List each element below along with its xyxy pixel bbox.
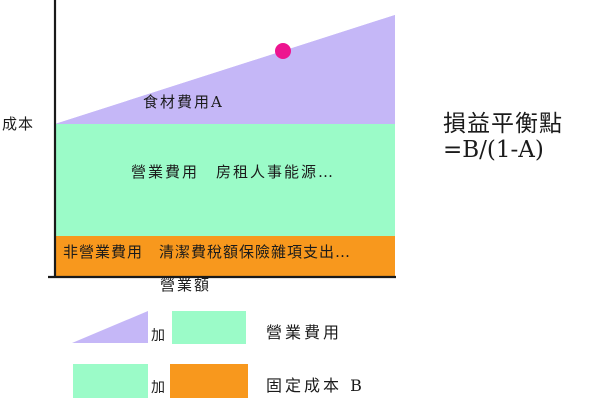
y-axis-label: 成本 xyxy=(2,117,34,132)
chart-canvas xyxy=(0,0,600,404)
break-even-dot-icon xyxy=(275,43,291,59)
legend-connector-1: 加 xyxy=(151,325,165,345)
break-even-formula-title: 損益平衡點 xyxy=(443,112,563,138)
x-axis-label: 營業額 xyxy=(160,278,211,293)
legend-label-operating-cost: 營業費用 xyxy=(266,319,342,343)
band-fixed-cost-label: 非營業費用 清潔費稅額保險雜項支出… xyxy=(63,245,351,260)
break-even-formula: 損益平衡點 =B/(1-A) xyxy=(443,112,563,164)
legend-swatch-orange xyxy=(170,364,248,398)
break-even-formula-expression: =B/(1-A) xyxy=(443,138,563,164)
band-operating-cost-label: 營業費用 房租人事能源… xyxy=(131,165,335,180)
legend-swatch-green-1 xyxy=(172,311,246,344)
band-variable-cost-fill xyxy=(55,15,395,124)
legend-connector-2: 加 xyxy=(151,377,165,397)
band-variable-cost-label: 食材費用A xyxy=(143,95,224,110)
legend-swatch-green-2 xyxy=(73,364,148,398)
breakeven-diagram: 成本 營業額 食材費用A 營業費用 房租人事能源… 非營業費用 清潔費稅額保險雜… xyxy=(0,0,600,404)
legend-label-fixed-cost: 固定成本 B xyxy=(266,372,365,396)
legend-swatch-triangle-purple xyxy=(72,311,148,343)
